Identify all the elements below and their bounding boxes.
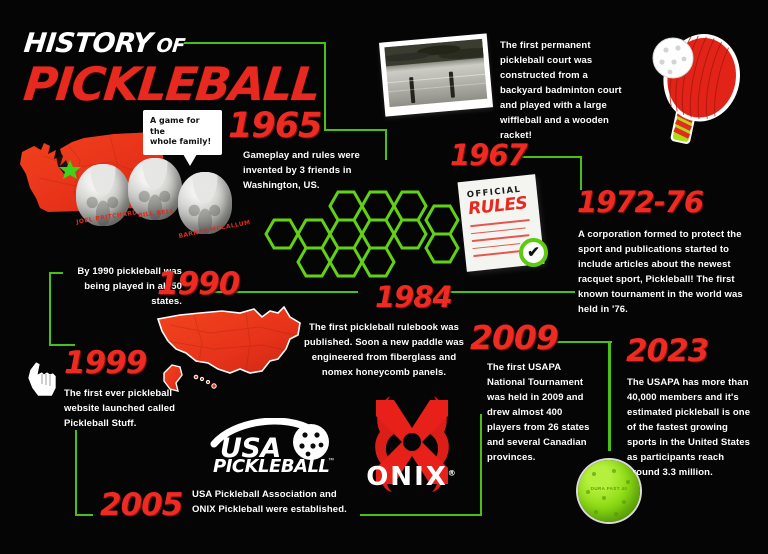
- page-title-line2: PICKLEBALL: [21, 57, 322, 111]
- connector-1967-right: [522, 156, 582, 158]
- connector-title-down: [324, 42, 326, 131]
- body-text-1965: Gameplay and rules were invented by 3 fr…: [243, 148, 393, 193]
- year-label-2009: 2009: [470, 318, 558, 357]
- speech-bubble-line2: whole family!: [150, 137, 216, 148]
- pickleball-paddle-icon: [648, 26, 756, 154]
- connector-1990-bracket-vertical: [49, 272, 51, 346]
- rules-check-badge: ✔: [519, 238, 548, 267]
- connector-1965-right: [324, 129, 387, 131]
- body-text-1984: The first pickleball rulebook was publis…: [300, 320, 468, 380]
- title-of-word: OF: [155, 35, 185, 57]
- connector-2009-right: [552, 341, 610, 343]
- year-label-1965: 1965: [228, 106, 321, 146]
- photo-image: [384, 39, 487, 107]
- usa-pickleball-logo-pickleball: PICKLEBALL: [213, 456, 329, 477]
- body-text-1999: The first ever pickleball website launch…: [64, 386, 180, 431]
- page-title-line1: HISTORYOF: [22, 28, 186, 59]
- connector-2005-bracket-bottom: [75, 514, 93, 516]
- onix-wordmark-text: ONIX: [366, 462, 448, 492]
- usa-pickleball-logo-trademark: ™: [328, 458, 334, 464]
- body-text-2009: The first USAPA National Tournament was …: [487, 360, 599, 465]
- infographic-canvas: HISTORYOF PICKLEBALL A game: [0, 0, 768, 554]
- body-text-2023: The USAPA has more than 40,000 members a…: [627, 375, 755, 480]
- connector-2023-bracket: [609, 341, 611, 451]
- year-label-1984: 1984: [375, 280, 452, 314]
- body-text-2005: USA Pickleball Association and ONIX Pick…: [192, 487, 362, 517]
- connector-2005-up: [480, 414, 482, 516]
- connector-title-right: [184, 42, 326, 44]
- speech-bubble-tail: [183, 154, 197, 166]
- speech-bubble-line1: A game for the: [150, 116, 216, 137]
- pointer-hand-icon: [26, 358, 62, 398]
- year-label-1972-76: 1972-76: [577, 185, 703, 219]
- onix-wordmark-trademark: ®: [448, 468, 458, 477]
- green-pickleball-ball: DURA FAST 40: [578, 460, 640, 522]
- year-label-2023: 2023: [626, 333, 708, 369]
- title-history-word: HISTORY: [22, 28, 153, 59]
- green-ball-label: DURA FAST 40: [578, 486, 640, 491]
- body-text-1972-76: A corporation formed to protect the spor…: [578, 227, 750, 317]
- onix-wordmark: ONIX®: [360, 462, 464, 492]
- connector-2005-bracket-vertical: [75, 430, 77, 516]
- connector-2005-right: [360, 514, 482, 516]
- vintage-court-photo: [379, 33, 493, 116]
- usa-pickleball-logo: USA PICKLEBALL ™: [208, 418, 336, 480]
- speech-bubble: A game for the whole family!: [143, 110, 222, 155]
- honeycomb-pattern: [252, 190, 462, 288]
- connector-1984-right: [441, 291, 575, 293]
- year-label-1967: 1967: [450, 138, 527, 172]
- year-label-2005: 2005: [100, 487, 182, 523]
- year-label-1990: 1990: [157, 266, 239, 302]
- body-text-1967: The first permanent pickleball court was…: [500, 38, 632, 143]
- year-label-1999: 1999: [64, 345, 146, 381]
